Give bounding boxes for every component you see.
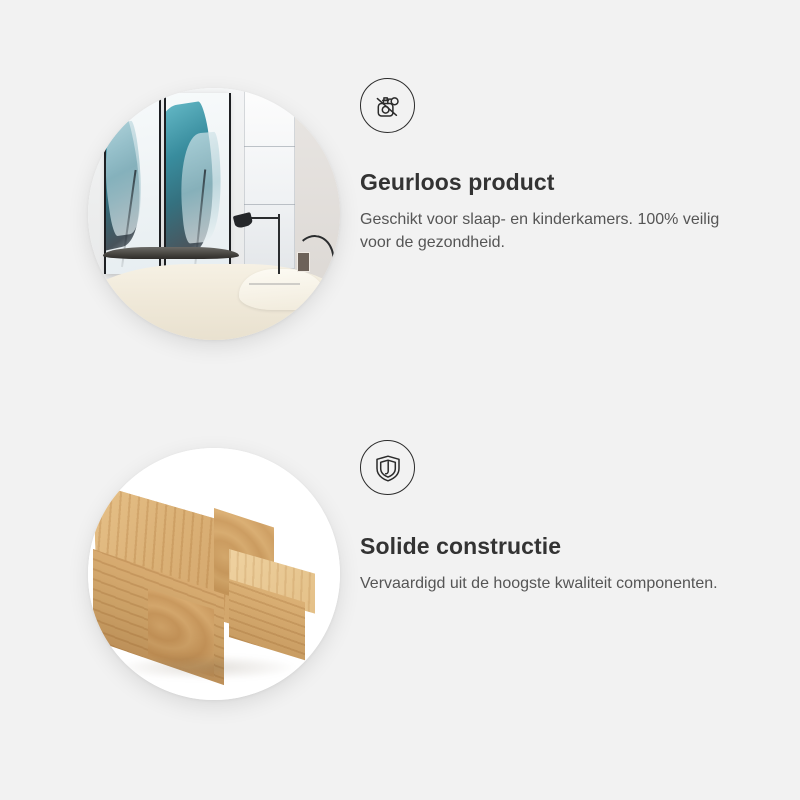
photo-circle-mask: [88, 448, 340, 700]
contact-shadow: [118, 655, 294, 680]
bedroom-feather-wall-art-photo: [88, 88, 340, 340]
feature-title: Geurloos product: [360, 169, 780, 197]
bedroom-scene: [88, 88, 340, 340]
benefits-panel: Geurloos product Geschikt voor slaap- en…: [0, 0, 800, 800]
shield-icon: [360, 440, 415, 495]
feature-description: Geschikt voor slaap- en kinderkamers. 10…: [360, 208, 750, 254]
no-perfume-icon: [360, 78, 415, 133]
feature-block-scent: Geurloos product Geschikt voor slaap- en…: [0, 60, 800, 380]
photo-circle-mask: [88, 88, 340, 340]
window-shape: [244, 88, 294, 269]
headboard-shape: [103, 247, 239, 260]
no-perfume-glyph: [371, 89, 405, 123]
feature-content-build: Solide constructie Vervaardigd uit de ho…: [360, 440, 780, 595]
side-table-shape: [249, 283, 299, 285]
wood-scene: [88, 448, 340, 700]
shield-glyph: [372, 452, 404, 484]
feature-content-scent: Geurloos product Geschikt voor slaap- en…: [360, 78, 780, 254]
feature-title: Solide constructie: [360, 533, 780, 561]
lamp-pole-shape: [278, 214, 280, 274]
art-panel-right-edge: [237, 93, 247, 274]
feature-description: Vervaardigd uit de hoogste kwaliteit com…: [360, 572, 750, 595]
feature-block-build: Solide constructie Vervaardigd uit de ho…: [0, 420, 800, 720]
wooden-beams-photo: [88, 448, 340, 700]
